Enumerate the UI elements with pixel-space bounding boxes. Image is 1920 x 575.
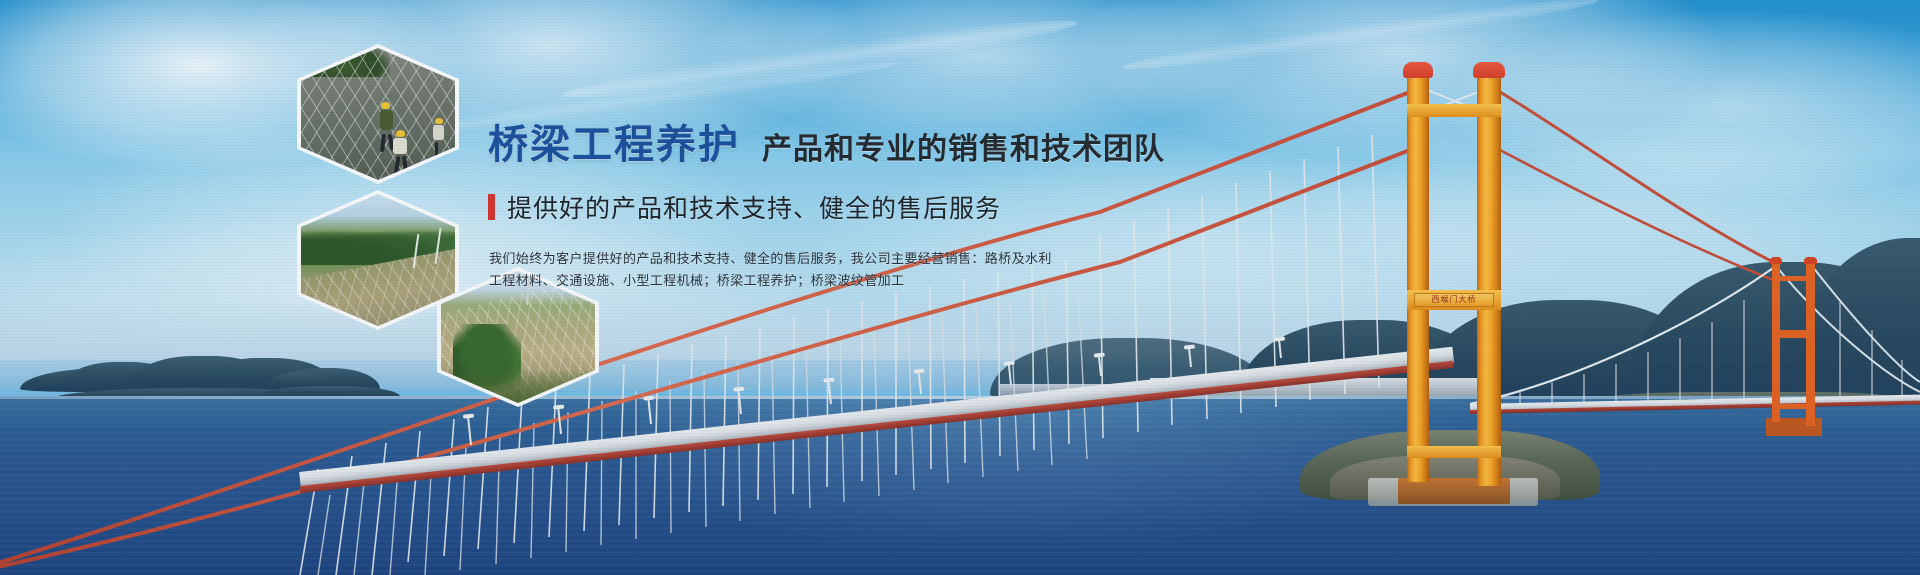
hexagon-photo-1 [301,48,455,180]
tower-cap [1473,62,1505,78]
worker-helmet [396,130,405,137]
worker-leg [435,142,438,158]
bridge-tower-leg [1407,70,1429,482]
headline-secondary: 产品和专业的销售和技术团队 [762,135,1165,165]
worker-body [393,138,407,154]
photo-green-vegetated-slope [301,194,455,326]
bridge-tower-leg [1477,70,1501,486]
accent-bar-icon [488,194,495,220]
tower-plaque-label: 西堠门大桥 [1418,294,1490,306]
far-tower-cap [1770,257,1782,264]
banner-text-block: 桥梁工程养护 产品和专业的销售和技术团队 提供好的产品和技术支持、健全的售后服务… [488,125,1208,293]
worker-helmet [435,118,443,124]
tower-cap [1403,62,1433,78]
far-tower-strut [1772,330,1815,338]
banner-subline: 提供好的产品和技术支持、健全的售后服务 [488,189,1208,225]
tower-cross-strut [1407,104,1501,117]
banner-body-text: 我们始终为客户提供好的产品和技术支持、健全的售后服务，我公司主要经营销售：路桥及… [489,249,1208,293]
far-tower-strut [1772,276,1815,281]
worker-body [380,110,393,130]
body-line-2: 工程材料、交通设施、小型工程机械；桥梁工程养护；桥梁波纹管加工 [489,271,1208,293]
photo-rock-slope-netting-workers [301,48,455,180]
headline-primary: 桥梁工程养护 [488,125,740,165]
tower-cross-strut [1407,446,1501,458]
body-line-1: 我们始终为客户提供好的产品和技术支持、健全的售后服务，我公司主要经营销售：路桥及… [489,249,1208,271]
hero-banner: 西堠门大桥 [0,0,1920,575]
worker-helmet [381,102,390,109]
far-tower-cap [1804,257,1817,264]
photo-netting-mesh [301,48,455,180]
far-tower-leg [1772,262,1780,422]
far-tower-strut [1772,404,1815,409]
hexagon-photo-2 [301,194,455,326]
far-tower-leg [1806,262,1815,426]
worker-body [433,125,444,140]
subline-text: 提供好的产品和技术支持、健全的售后服务 [507,189,1001,225]
banner-headline: 桥梁工程养护 产品和专业的销售和技术团队 [488,125,1208,165]
